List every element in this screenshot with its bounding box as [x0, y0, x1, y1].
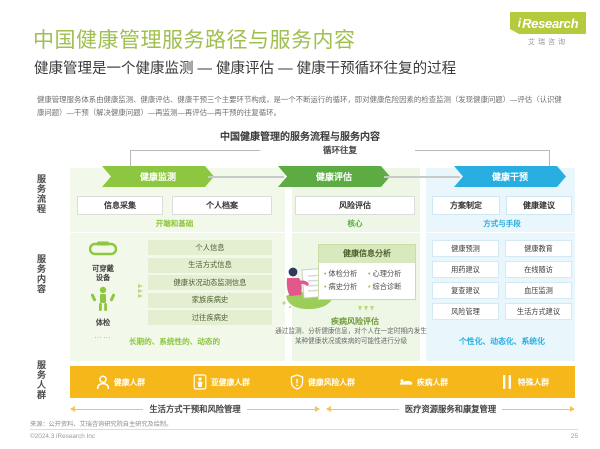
- arrow-line: [502, 409, 570, 410]
- population-group-diseased: 疾病人群: [373, 374, 474, 390]
- page-title: 中国健康管理服务路径与服务内容: [33, 24, 356, 54]
- loop-label: 循环往复: [316, 144, 364, 156]
- page-subtitle: 健康管理是一个健康监测 — 健康评估 — 健康干预循环往复的过程: [34, 57, 456, 78]
- list-item: 健康状况动态监测信息: [148, 275, 272, 290]
- list-item: 健康预测: [432, 240, 499, 257]
- population-label: 特殊人群: [518, 377, 549, 388]
- arrow-line: [247, 409, 315, 410]
- list-item: 血压监测: [505, 282, 572, 299]
- physical-exam-icon: [74, 286, 132, 317]
- logo-badge: i Research: [510, 12, 586, 34]
- source-note: 来源：公开资料、艾瑞咨询研究院自主研究及绘制。: [30, 419, 578, 428]
- flow-arrows-right-icon: [134, 284, 146, 298]
- body-icon: [193, 374, 207, 390]
- population-label: 健康风险人群: [308, 377, 355, 388]
- lead-paragraph: 健康管理服务体系由健康监测、健康评估、健康干预三个主要环节构成，是一个不断运行的…: [37, 93, 565, 119]
- row-label-content: 服务内容: [30, 254, 46, 294]
- list-item: 病史分析: [324, 282, 366, 292]
- footer-divider: [30, 429, 578, 430]
- disease-risk-assessment-title: 疾病风险评估: [292, 316, 418, 327]
- arrow-right-icon: [315, 406, 320, 412]
- data-sources: 可穿戴设备 体检 ……: [74, 240, 132, 340]
- population-band: 健康人群 亚健康人群 健康风险人群 疾病人群: [70, 366, 575, 398]
- monitoring-note: 长期的、系统性的、动态的: [77, 336, 272, 347]
- arrow-line: [331, 409, 399, 410]
- source-label-exam: 体检: [74, 318, 132, 327]
- process-box-personal-record: 个人档案: [172, 196, 272, 215]
- population-label: 亚健康人群: [211, 377, 250, 388]
- stage-chevron-intervention: 健康干预: [454, 166, 566, 187]
- list-item: 健康教育: [505, 240, 572, 257]
- list-item: 用药建议: [432, 261, 499, 278]
- shield-alert-icon: [290, 374, 304, 390]
- page-number: 25: [571, 433, 578, 440]
- population-group-subhealthy: 亚健康人群: [171, 374, 272, 390]
- arrow-medical-resources: 医疗资源服务和康复管理: [326, 402, 575, 416]
- stage-tag-monitoring: 开端和基础: [77, 218, 272, 229]
- intervention-grid: 健康预测 健康教育 用药建议 在线随访 复查建议 血压监测 风险管理 生活方式建…: [432, 240, 572, 320]
- process-box-risk-assessment: 风险评估: [295, 196, 415, 215]
- list-item: 家族疾病史: [148, 293, 272, 308]
- population-group-healthy: 健康人群: [70, 374, 171, 390]
- figure-title: 中国健康管理的服务流程与服务内容: [0, 128, 600, 143]
- person-icon: [96, 374, 110, 390]
- wearable-device-icon: [74, 240, 132, 263]
- stage-tag-intervention: 方式与手段: [432, 218, 572, 229]
- list-item: 复查建议: [432, 282, 499, 299]
- population-label: 疾病人群: [417, 377, 448, 388]
- stage-connector-2: [384, 176, 460, 178]
- list-item: 体检分析: [324, 269, 366, 279]
- process-box-health-advice: 健康建议: [506, 196, 572, 215]
- diagram: 服务流程 服务内容 服务人群 循环往复 健康监测 健康评估 健康干预 信息采集 …: [30, 144, 575, 416]
- list-item: 过往疾病史: [148, 310, 272, 325]
- list-item: 综合诊断: [368, 282, 410, 292]
- population-arrow-row: 生活方式干预和风险管理 医疗资源服务和康复管理: [70, 402, 575, 416]
- copyright: ©2024.3 iResearch Inc: [30, 433, 95, 440]
- list-item: 心理分析: [368, 269, 410, 279]
- population-group-special: 特殊人群: [474, 374, 575, 390]
- arrow-line: [75, 409, 143, 410]
- analysis-box-items: 体检分析 心理分析 病史分析 综合诊断: [319, 263, 415, 299]
- stage-connector-1: [208, 176, 284, 178]
- bed-icon: [399, 374, 413, 390]
- stage-chevron-assessment: 健康评估: [278, 166, 390, 187]
- list-item: 生活方式建议: [505, 303, 572, 320]
- logo-wordmark: Research: [522, 16, 578, 31]
- flow-arrows-down-icon: [351, 306, 381, 311]
- loop-line-right: [415, 150, 550, 151]
- arrow-label: 生活方式干预和风险管理: [143, 403, 246, 415]
- arrow-lifestyle-intervention: 生活方式干预和风险管理: [70, 402, 320, 416]
- arrow-right-icon: [570, 406, 575, 412]
- analysis-box-title: 健康信息分析: [319, 245, 415, 263]
- iresearch-logo: i Research 艾瑞咨询: [510, 12, 586, 47]
- stage-chevron-monitoring: 健康监测: [102, 166, 214, 187]
- intervention-note: 个性化、动态化、系统化: [432, 336, 572, 347]
- process-box-plan-design: 方案制定: [432, 196, 500, 215]
- process-box-info-collection: 信息采集: [77, 196, 163, 215]
- logo-chinese-name: 艾瑞咨询: [510, 37, 586, 47]
- slide: 中国健康管理服务路径与服务内容 健康管理是一个健康监测 — 健康评估 — 健康干…: [0, 0, 600, 449]
- list-item: 生活方式信息: [148, 258, 272, 273]
- disease-risk-assessment-caption: 通过监测、分析健康信息，对个人在一定时期内发生某种健康状况或疾病的可能性进行分级: [274, 327, 428, 346]
- arrow-label: 医疗资源服务和康复管理: [399, 403, 502, 415]
- population-label: 健康人群: [114, 377, 145, 388]
- monitoring-info-list: 个人信息 生活方式信息 健康状况动态监测信息 家族疾病史 过往疾病史: [148, 240, 272, 328]
- health-info-analysis-box: 健康信息分析 体检分析 心理分析 病史分析 综合诊断: [318, 244, 416, 300]
- logo-i-letter: i: [518, 16, 521, 30]
- population-group-at-risk: 健康风险人群: [272, 374, 373, 390]
- loop-line-left: [130, 150, 260, 151]
- row-divider: [70, 232, 575, 233]
- row-label-people: 服务人群: [30, 360, 46, 400]
- list-item: 在线随访: [505, 261, 572, 278]
- row-label-process: 服务流程: [30, 174, 46, 214]
- list-item: 个人信息: [148, 240, 272, 255]
- source-label-wearable: 可穿戴设备: [74, 264, 132, 282]
- stage-tag-assessment: 核心: [295, 218, 415, 229]
- crutches-icon: [500, 374, 514, 390]
- list-item: 风险管理: [432, 303, 499, 320]
- slide-header: 中国健康管理服务路径与服务内容 健康管理是一个健康监测 — 健康评估 — 健康干…: [0, 0, 600, 92]
